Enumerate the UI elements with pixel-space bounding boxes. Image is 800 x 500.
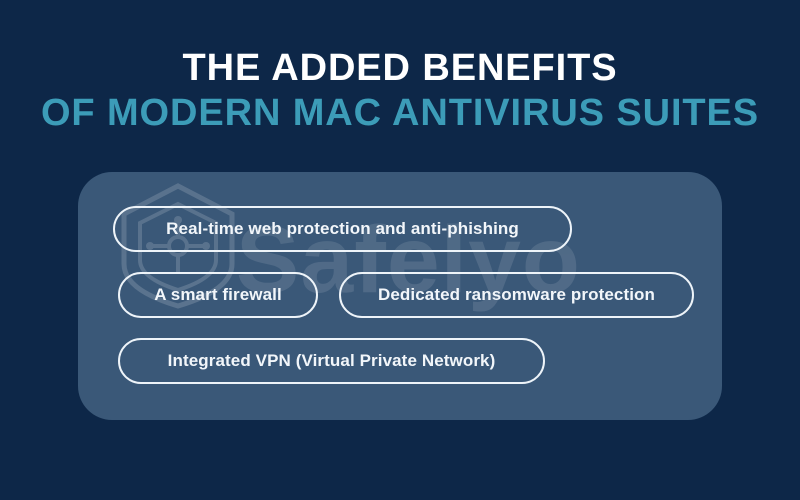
infographic-canvas: THE ADDED BENEFITS OF MODERN MAC ANTIVIR…	[0, 0, 800, 500]
benefit-pill: Real-time web protection and anti-phishi…	[113, 206, 572, 252]
benefits-panel: Safelyo Real-time web protection and ant…	[78, 172, 722, 420]
benefit-pill: Dedicated ransomware protection	[339, 272, 694, 318]
title-line-primary: THE ADDED BENEFITS	[0, 46, 800, 90]
benefit-pill: Integrated VPN (Virtual Private Network)	[118, 338, 545, 384]
benefit-pill: A smart firewall	[118, 272, 318, 318]
title-line-accent: OF MODERN MAC ANTIVIRUS SUITES	[0, 90, 800, 136]
page-title: THE ADDED BENEFITS OF MODERN MAC ANTIVIR…	[0, 46, 800, 136]
